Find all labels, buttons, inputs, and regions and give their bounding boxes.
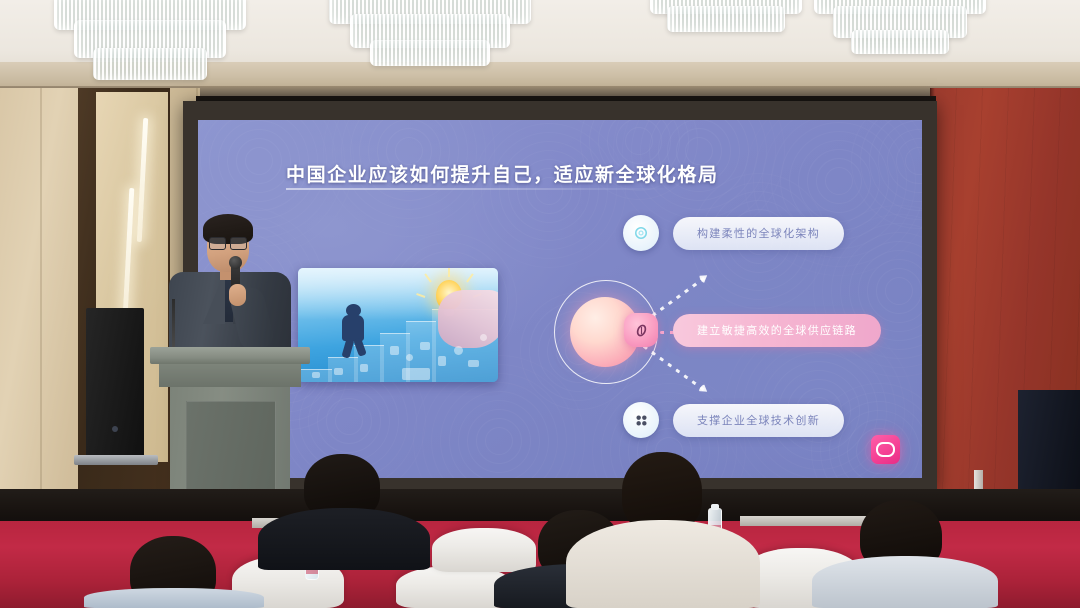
glasses-icon xyxy=(209,237,247,248)
chair-back xyxy=(432,528,536,572)
slide-node-1[interactable]: 构建柔性的全球化架构 xyxy=(623,215,844,251)
leaf-capsule-icon xyxy=(623,312,659,348)
slide-node-3-label: 支撑企业全球技术创新 xyxy=(673,404,844,437)
slide-node-2-label: 建立敏捷高效的全球供应链路 xyxy=(673,314,881,347)
left-speaker-cabinet xyxy=(86,308,144,458)
slide-node-1-label: 构建柔性的全球化架构 xyxy=(673,217,844,250)
slide-node-2[interactable]: 建立敏捷高效的全球供应链路 xyxy=(623,312,881,348)
presenter xyxy=(163,214,303,364)
brand-logo-glyph xyxy=(876,442,895,457)
right-speaker-cabinet xyxy=(1018,390,1080,502)
microphone-head xyxy=(229,256,242,269)
slide-photo xyxy=(298,268,498,382)
four-dots-grid-glyph xyxy=(633,412,650,429)
gear-ring-glyph xyxy=(632,224,650,242)
four-dots-grid-icon xyxy=(623,402,659,438)
gear-ring-icon xyxy=(623,215,659,251)
left-speaker-stand xyxy=(74,455,158,465)
title-underline xyxy=(286,188,672,190)
conference-photo-scene: 中国企业应该如何提升自己，适应新全球化格局 xyxy=(0,0,1080,608)
brand-logo xyxy=(871,435,900,464)
slide-node-3[interactable]: 支撑企业全球技术创新 xyxy=(623,402,844,438)
leaf-capsule-glyph xyxy=(633,322,650,339)
slide-title: 中国企业应该如何提升自己，适应新全球化格局 xyxy=(286,160,719,187)
